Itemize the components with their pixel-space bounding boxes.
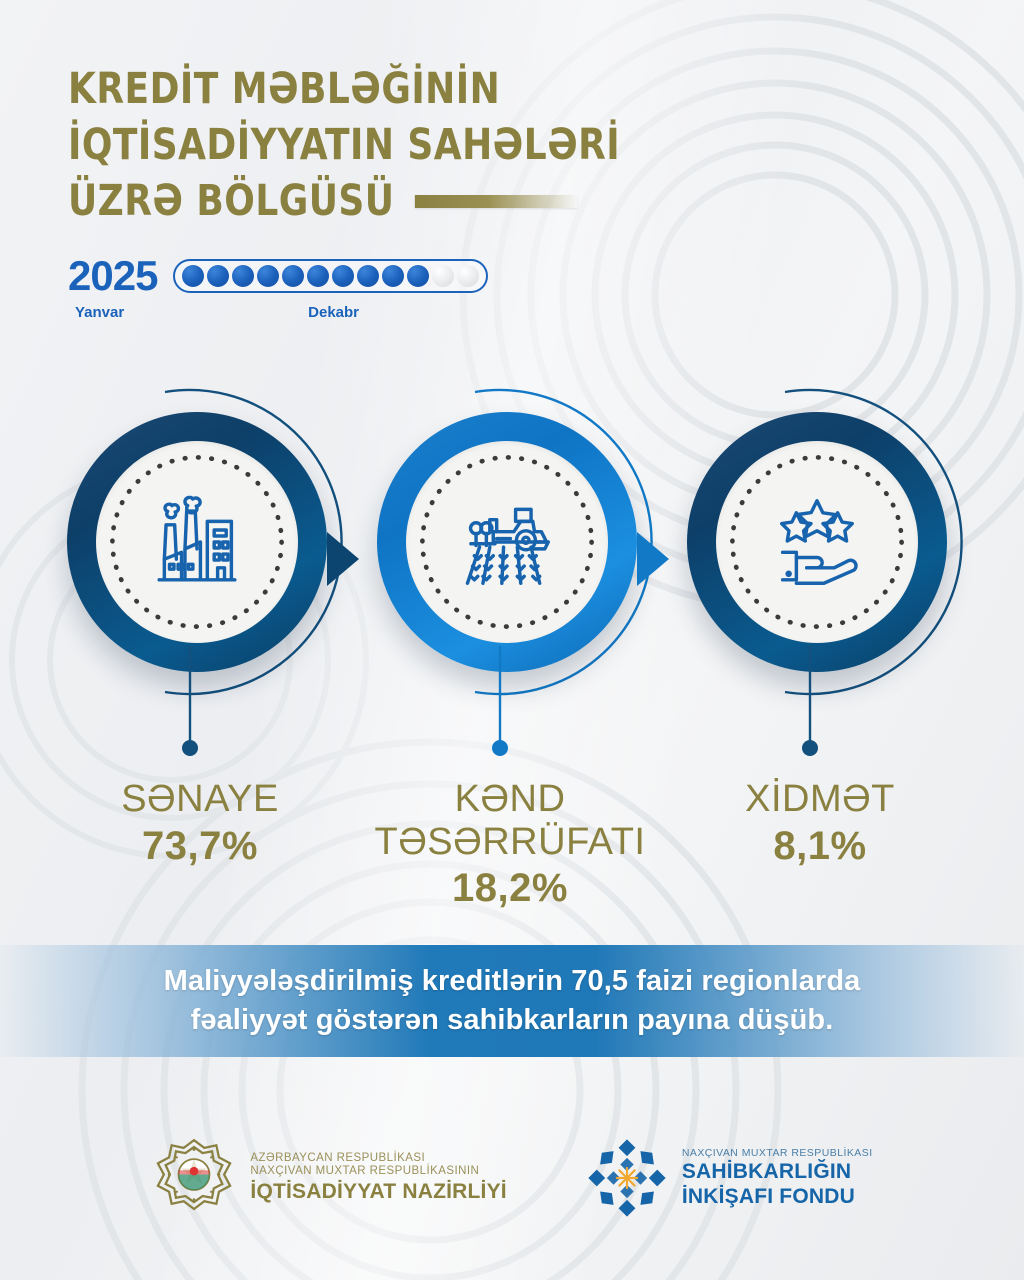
arrow-agriculture-to-services [637,532,669,586]
sector-percent: 8,1% [665,821,975,871]
title-line-3: ÜZRƏ BÖLGÜSÜ [68,174,394,230]
fund-emblem-icon [585,1136,669,1220]
ministry-line-2: NAXÇIVAN MUXTAR RESPUBLİKASININ [250,1165,506,1179]
title-line-3-row: ÜZRƏ BÖLGÜSÜ [68,174,719,230]
month-end-label: Dekabr [308,304,359,321]
header: KREDİT MƏBLƏĞİNİN İQTİSADİYYATIN SAHƏLƏR… [68,62,768,324]
fund-logo: NAXÇIVAN MUXTAR RESPUBLİKASI SAHİBKARLIĞ… [585,1136,873,1220]
sector-name-line-1: KƏND [355,778,665,821]
arrow-industry-to-agriculture [327,532,359,586]
ministry-line-1: AZƏRBAYCAN RESPUBLİKASI [250,1152,506,1166]
sector-label-industry: SƏNAYE 73,7% [45,778,355,871]
sector-name: SƏNAYE [45,778,355,821]
ministry-logo-text: AZƏRBAYCAN RESPUBLİKASI NAXÇIVAN MUXTAR … [250,1152,506,1205]
connector-stems [0,620,1024,770]
sector-label-services: XİDMƏT 8,1% [665,778,975,871]
banner-text: Maliyyələşdirilmiş kreditlərin 70,5 faiz… [164,962,861,1039]
period-indicator: 2025 [68,252,768,300]
title-line-1: KREDİT MƏBLƏĞİNİN [68,62,719,118]
year-label: 2025 [68,252,157,300]
month-dot-1 [182,265,204,287]
fund-line-1: NAXÇIVAN MUXTAR RESPUBLİKASI [682,1147,873,1160]
month-dot-8 [357,265,379,287]
ministry-emblem-icon [151,1135,237,1221]
month-range-labels: Yanvar Dekabr [72,304,362,324]
sector-label-agriculture: KƏND TƏSƏRRÜFATI 18,2% [355,778,665,913]
hand-stars-icon [716,441,918,643]
sector-name: XİDMƏT [665,778,975,821]
banner-line-1: Maliyyələşdirilmiş kreditlərin 70,5 faiz… [164,965,861,997]
month-progress-track [173,259,488,293]
fund-logo-text: NAXÇIVAN MUXTAR RESPUBLİKASI SAHİBKARLIĞ… [682,1147,873,1210]
tractor-field-icon [406,441,608,643]
highlight-banner: Maliyyələşdirilmiş kreditlərin 70,5 faiz… [0,945,1024,1057]
footer-logos: AZƏRBAYCAN RESPUBLİKASI NAXÇIVAN MUXTAR … [0,1118,1024,1238]
sector-percent: 18,2% [355,863,665,913]
sector-name-line-2: TƏSƏRRÜFATI [355,821,665,864]
month-dot-7 [332,265,354,287]
disc [96,441,298,643]
month-dot-4 [257,265,279,287]
disc [716,441,918,643]
month-dot-11 [432,265,454,287]
banner-line-2: fəaliyyət göstərən sahibkarların payına … [191,1004,834,1036]
month-dot-2 [207,265,229,287]
month-dot-6 [307,265,329,287]
month-dot-9 [382,265,404,287]
factory-icon [96,441,298,643]
title-line-2: İQTİSADİYYATIN SAHƏLƏRİ [68,118,719,174]
ministry-line-3: İQTİSADİYYAT NAZİRLİYİ [250,1179,506,1204]
disc [406,441,608,643]
page-title: KREDİT MƏBLƏĞİNİN İQTİSADİYYATIN SAHƏLƏR… [68,62,719,230]
title-gold-rule [415,195,578,208]
ministry-logo: AZƏRBAYCAN RESPUBLİKASI NAXÇIVAN MUXTAR … [151,1135,506,1221]
month-dot-3 [232,265,254,287]
month-dot-5 [282,265,304,287]
month-dot-12 [457,265,479,287]
fund-line-3: İNKİŞAFI FONDU [682,1184,873,1209]
month-start-label: Yanvar [75,304,124,321]
sector-labels: SƏNAYE 73,7% KƏND TƏSƏRRÜFATI 18,2% XİDM… [0,770,1024,920]
fund-line-2: SAHİBKARLIĞIN [682,1159,873,1184]
month-dot-10 [407,265,429,287]
sector-percent: 73,7% [45,821,355,871]
